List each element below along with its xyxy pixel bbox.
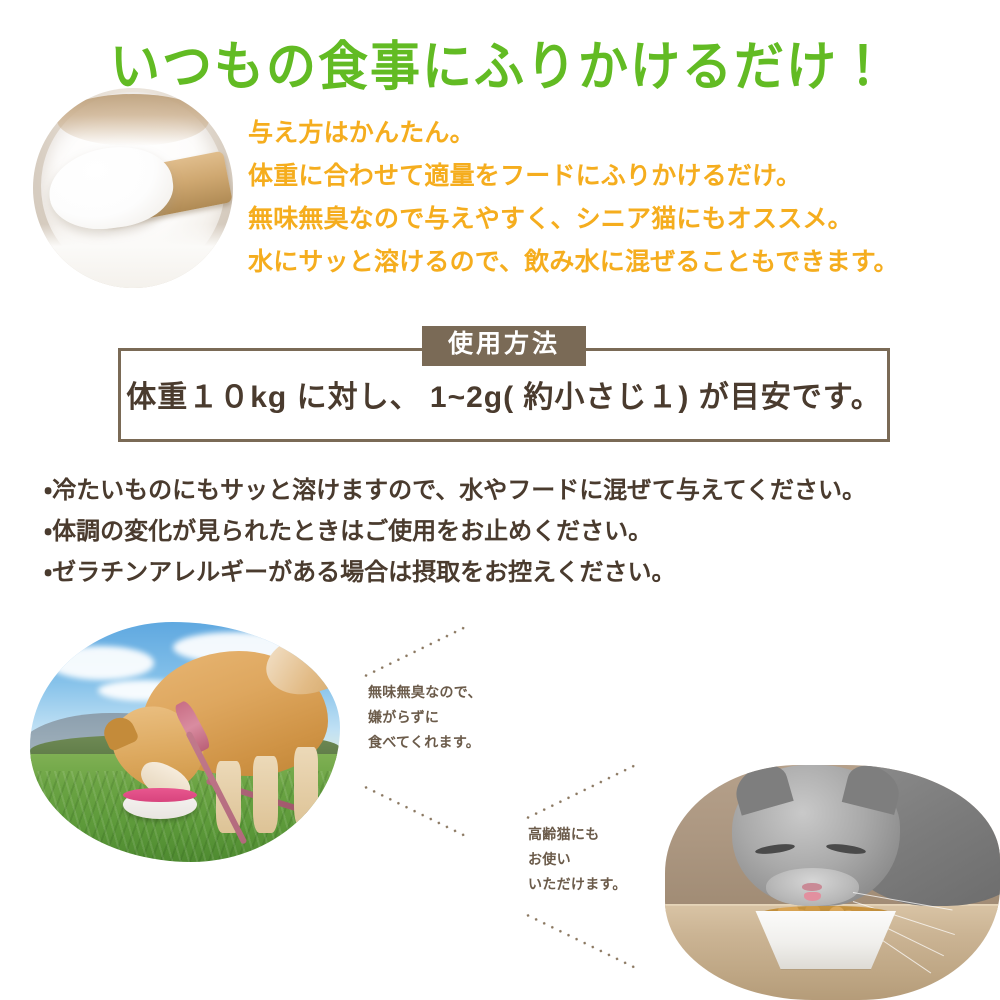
dog-photo (30, 622, 340, 862)
cat-photo (665, 765, 1000, 1000)
notes-list: ・冷たいものにもサッと溶けますので、水やフードに混ぜて与えてください。 ・体調の… (44, 470, 984, 593)
cat-caption-line-2: お使い (528, 847, 627, 872)
cat-caption-line-1: 高齢猫にも (528, 822, 627, 847)
cat-caption: 高齢猫にも お使い いただけます。 (528, 822, 627, 897)
intro-line-4: 水にサッと溶けるので、飲み水に混ぜることもできます。 (248, 241, 988, 284)
usage-method-section: 使用方法 体重１０kg に対し、 1~2g( 約小さじ１) が目安です。 (118, 326, 890, 444)
infographic-page: いつもの食事にふりかけるだけ！ 与え方はかんたん。 体重に合わせて適量をフードに… (0, 0, 1000, 1000)
intro-line-2: 体重に合わせて適量をフードにふりかけるだけ。 (248, 155, 988, 198)
intro-line-1: 与え方はかんたん。 (248, 112, 988, 155)
dotted-callout-dog-top (361, 624, 468, 678)
glass-bowl-rim (57, 94, 209, 146)
dog-caption-line-3: 食べてくれます。 (368, 730, 482, 755)
dog-caption: 無味無臭なので、 嫌がらずに 食べてくれます。 (368, 680, 482, 755)
dog-leg (294, 747, 319, 829)
intro-line-3: 無味無臭なので与えやすく、シニア猫にもオススメ。 (248, 198, 988, 241)
dog-caption-line-2: 嫌がらずに (368, 705, 482, 730)
cat-caption-line-3: いただけます。 (528, 872, 627, 897)
dotted-callout-dog-bottom (361, 784, 468, 838)
dog-bowl-rim (123, 788, 197, 802)
intro-paragraph: 与え方はかんたん。 体重に合わせて適量をフードにふりかけるだけ。 無味無臭なので… (248, 112, 988, 284)
note-item-2: ・体調の変化が見られたときはご使用をお止めください。 (44, 511, 984, 552)
powder-spoon-photo (33, 88, 233, 288)
note-item-1: ・冷たいものにもサッと溶けますので、水やフードに混ぜて与えてください。 (44, 470, 984, 511)
dog-caption-line-1: 無味無臭なので、 (368, 680, 482, 705)
dotted-callout-cat-top (523, 762, 639, 821)
cat-nose (802, 883, 822, 891)
powder-bed (33, 224, 233, 288)
usage-dosage-text: 体重１０kg に対し、 1~2g( 約小さじ１) が目安です。 (118, 372, 890, 416)
note-item-3: ・ゼラチンアレルギーがある場合は摂取をお控えください。 (44, 552, 984, 593)
usage-method-label: 使用方法 (422, 326, 586, 366)
cloud-shape (49, 646, 154, 680)
dog-leg (253, 756, 278, 833)
dotted-callout-cat-bottom (523, 912, 639, 971)
